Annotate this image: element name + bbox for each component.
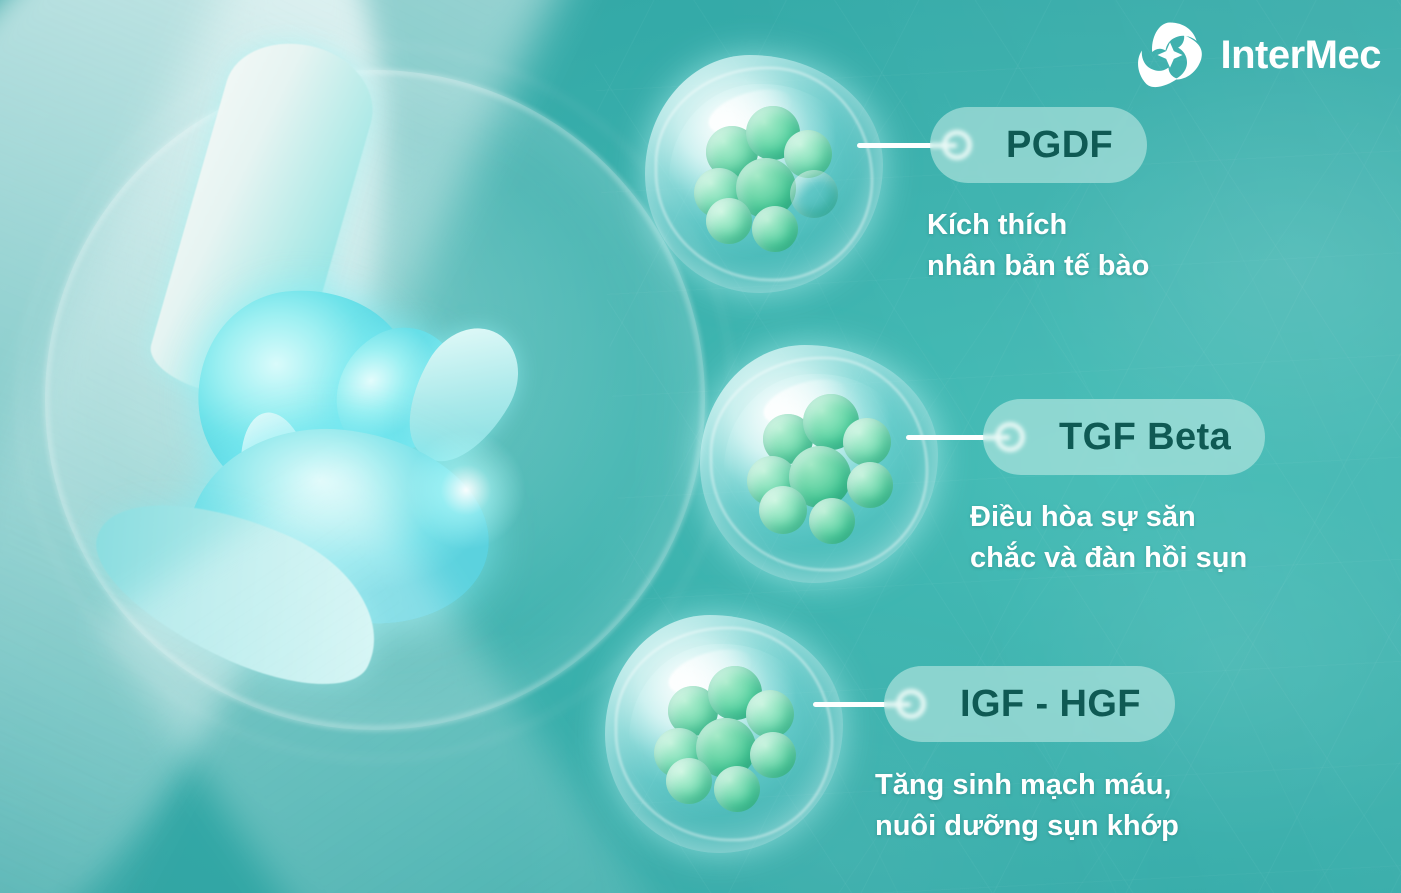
stem-cell-icon (645, 55, 883, 293)
stem-cell-icon (605, 615, 843, 853)
caption-pgdf: Kích thích nhân bản tế bào (927, 205, 1149, 287)
caption-line: nuôi dưỡng sụn khớp (875, 806, 1179, 847)
label-text: PGDF (1006, 126, 1113, 164)
caption-line: nhân bản tế bào (927, 246, 1149, 287)
brand-logo[interactable]: InterMec (1133, 18, 1382, 92)
pinwheel-sparkle-logo-icon (1133, 18, 1207, 92)
label-pill-igf-hgf[interactable]: IGF - HGF (884, 666, 1175, 742)
caption-line: Kích thích (927, 205, 1149, 246)
label-pill-tgf-beta[interactable]: TGF Beta (983, 399, 1265, 475)
label-text: TGF Beta (1059, 418, 1231, 456)
caption-line: chắc và đàn hồi sụn (970, 538, 1247, 579)
caption-tgf-beta: Điều hòa sự săn chắc và đàn hồi sụn (970, 497, 1247, 579)
caption-line: Tăng sinh mạch máu, (875, 765, 1179, 806)
infographic-canvas: InterMec PGDF Kích thích (0, 0, 1401, 893)
label-text: IGF - HGF (960, 685, 1141, 723)
stem-cell-icon (700, 345, 938, 583)
brand-name: InterMec (1221, 35, 1382, 75)
caption-line: Điều hòa sự săn (970, 497, 1247, 538)
joint-glow-spark (406, 430, 526, 550)
label-pill-pgdf[interactable]: PGDF (930, 107, 1147, 183)
caption-igf-hgf: Tăng sinh mạch máu, nuôi dưỡng sụn khớp (875, 765, 1179, 847)
